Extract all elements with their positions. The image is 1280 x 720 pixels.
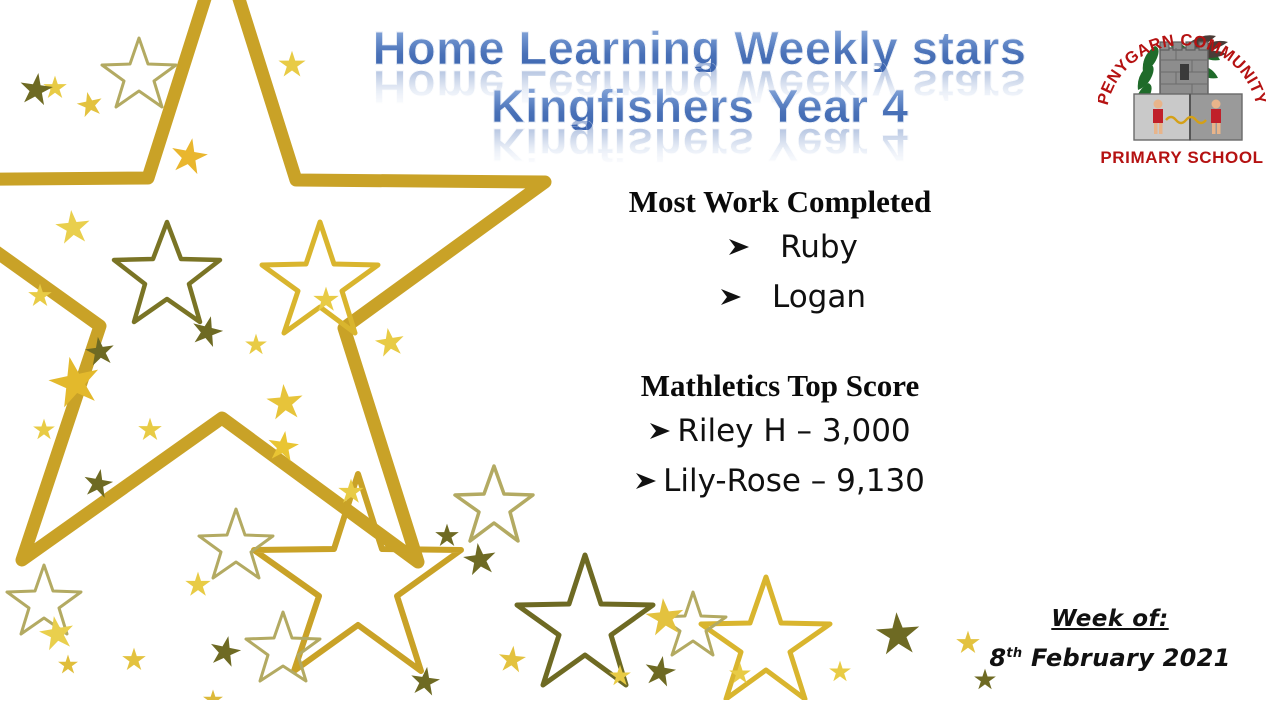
slide-canvas: PENYGARN COMMUNITY PRIMARY SCHOOL Home L… [0, 0, 1280, 720]
list-item: Logan [520, 272, 1040, 322]
week-of-date: 8th February 2021 [960, 636, 1260, 676]
school-logo: PENYGARN COMMUNITY PRIMARY SCHOOL [1098, 8, 1266, 173]
medium-star-outline [246, 612, 320, 681]
medium-star-outline [701, 577, 830, 699]
title-line-1-text: Home Learning Weekly stars [373, 24, 1027, 72]
title-line-2-text: Kingfishers Year 4 [491, 82, 909, 130]
medium-star-outline [262, 222, 378, 333]
medium-star-outline [517, 555, 653, 685]
medium-star-outline [7, 565, 81, 634]
logo-bottom-text: PRIMARY SCHOOL [1100, 148, 1263, 167]
mathletics-top-score-list: Riley H – 3,000 Lily-Rose – 9,130 [520, 406, 1040, 506]
list-item: Ruby [520, 222, 1040, 272]
section-most-work-completed: Most Work Completed Ruby Logan [520, 182, 1040, 322]
title-line-2: Kingfishers Year 4 Kingfishers Year 4 [300, 82, 1100, 140]
most-work-completed-list: Ruby Logan [520, 222, 1040, 322]
list-item-label: Lily-Rose – 9,130 [663, 456, 925, 506]
medium-star-outline [254, 474, 461, 671]
week-of-block: Week of: 8th February 2021 [960, 602, 1260, 676]
week-of-label: Week of: [960, 602, 1260, 636]
week-of-date-ordinal: th [1006, 646, 1022, 661]
medium-star-outline [199, 509, 273, 578]
arrow-bullet-icon [720, 287, 742, 307]
list-item-label: Logan [772, 272, 866, 322]
list-item: Riley H – 3,000 [520, 406, 1040, 456]
list-item-label: Riley H – 3,000 [677, 406, 910, 456]
medium-star-outline [102, 38, 176, 107]
slide-title: Home Learning Weekly stars Home Learning… [300, 24, 1100, 140]
open-book-icon [1134, 94, 1242, 140]
title-line-1: Home Learning Weekly stars Home Learning… [300, 24, 1100, 82]
arrow-bullet-icon [649, 421, 671, 441]
list-item: Lily-Rose – 9,130 [520, 456, 1040, 506]
arrow-bullet-icon [635, 471, 657, 491]
awards-content: Most Work Completed Ruby Logan Mathle [520, 182, 1040, 514]
section-spacer [520, 330, 1040, 366]
medium-star-outline [114, 222, 220, 322]
section-heading-mathletics-top-score: Mathletics Top Score [520, 366, 1040, 406]
arrow-bullet-icon [728, 237, 750, 257]
medium-star-outline [660, 592, 726, 655]
section-heading-most-work-completed: Most Work Completed [520, 182, 1040, 222]
week-of-date-day: 8 [989, 644, 1006, 672]
section-mathletics-top-score: Mathletics Top Score Riley H – 3,000 Lil… [520, 366, 1040, 506]
list-item-label: Ruby [780, 222, 858, 272]
week-of-date-rest: February 2021 [1022, 644, 1230, 672]
